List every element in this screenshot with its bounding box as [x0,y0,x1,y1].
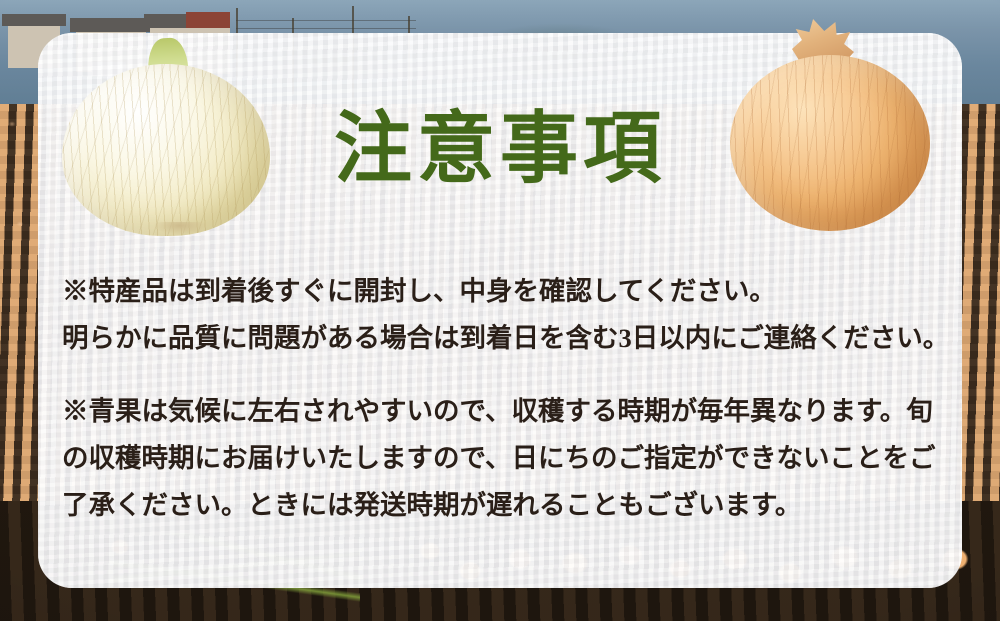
notice-line: ※青果は気候に左右されやすいので、収穫する時期が毎年異なります。旬 [62,388,952,435]
notice-card-image: 注意事項 ※特産品は到着後すぐに開封し、中身を確認してください。 明らかに品質に… [0,0,1000,621]
notice-paragraph-arrival-inspection: ※特産品は到着後すぐに開封し、中身を確認してください。 明らかに品質に問題がある… [62,268,952,362]
white-onion-root [154,222,206,234]
notice-line: 明らかに品質に問題がある場合は到着日を含む3日以内にご連絡ください。 [62,315,952,362]
notice-body: ※特産品は到着後すぐに開封し、中身を確認してください。 明らかに品質に問題がある… [62,268,952,529]
notice-line: の収穫時期にお届けいたしますので、日にちのご指定ができないことをご [62,435,952,482]
notice-line: 了承ください。ときには発送時期が遅れることもございます。 [62,482,952,529]
notice-paragraph-harvest-timing: ※青果は気候に左右されやすいので、収穫する時期が毎年異なります。旬 の収穫時期に… [62,388,952,529]
notice-line: ※特産品は到着後すぐに開封し、中身を確認してください。 [62,268,952,315]
page-title: 注意事項 [0,108,1000,190]
